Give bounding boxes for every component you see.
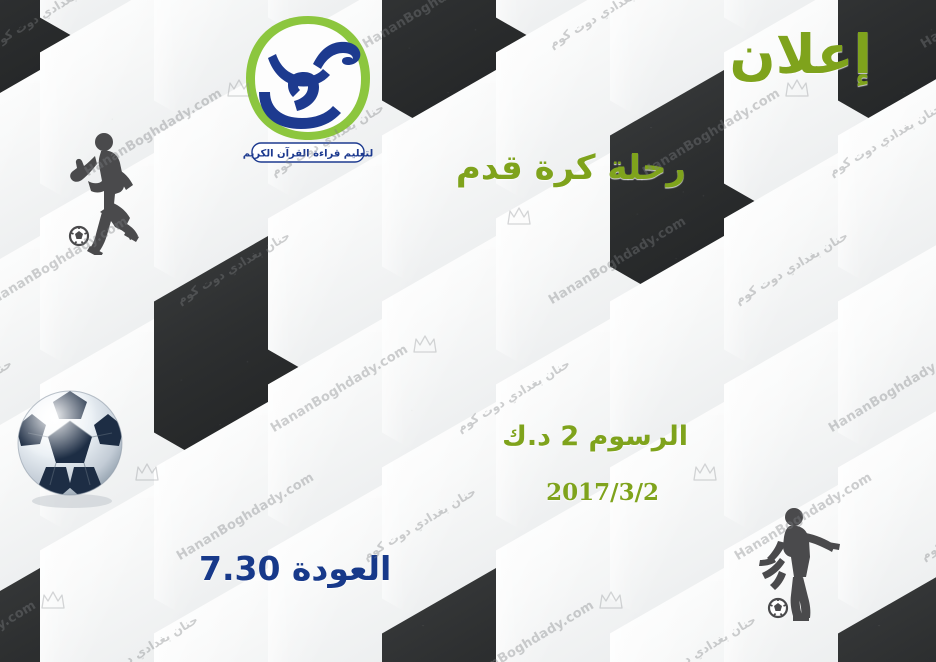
mini-ball-icon bbox=[70, 227, 88, 245]
pointing-player-silhouette bbox=[749, 505, 845, 627]
event-date: 2017/3/2 bbox=[546, 481, 659, 504]
fees-label: الرسوم 2 د.ك bbox=[502, 423, 688, 450]
page-title: إعلان bbox=[730, 28, 873, 82]
event-subtitle: رحلة كرة قدم bbox=[456, 151, 686, 185]
mini-ball-icon bbox=[769, 599, 787, 617]
poster-canvas: لتعليم قراءة القرآن الكريم bbox=[0, 0, 936, 662]
return-time-label: العودة 7.30 bbox=[199, 552, 391, 585]
soccer-ball-illustration bbox=[8, 383, 138, 513]
huroof-logo: لتعليم قراءة القرآن الكريم bbox=[218, 12, 398, 172]
runner-player-silhouette bbox=[57, 130, 149, 255]
logo-tagline: لتعليم قراءة القرآن الكريم bbox=[243, 147, 374, 160]
